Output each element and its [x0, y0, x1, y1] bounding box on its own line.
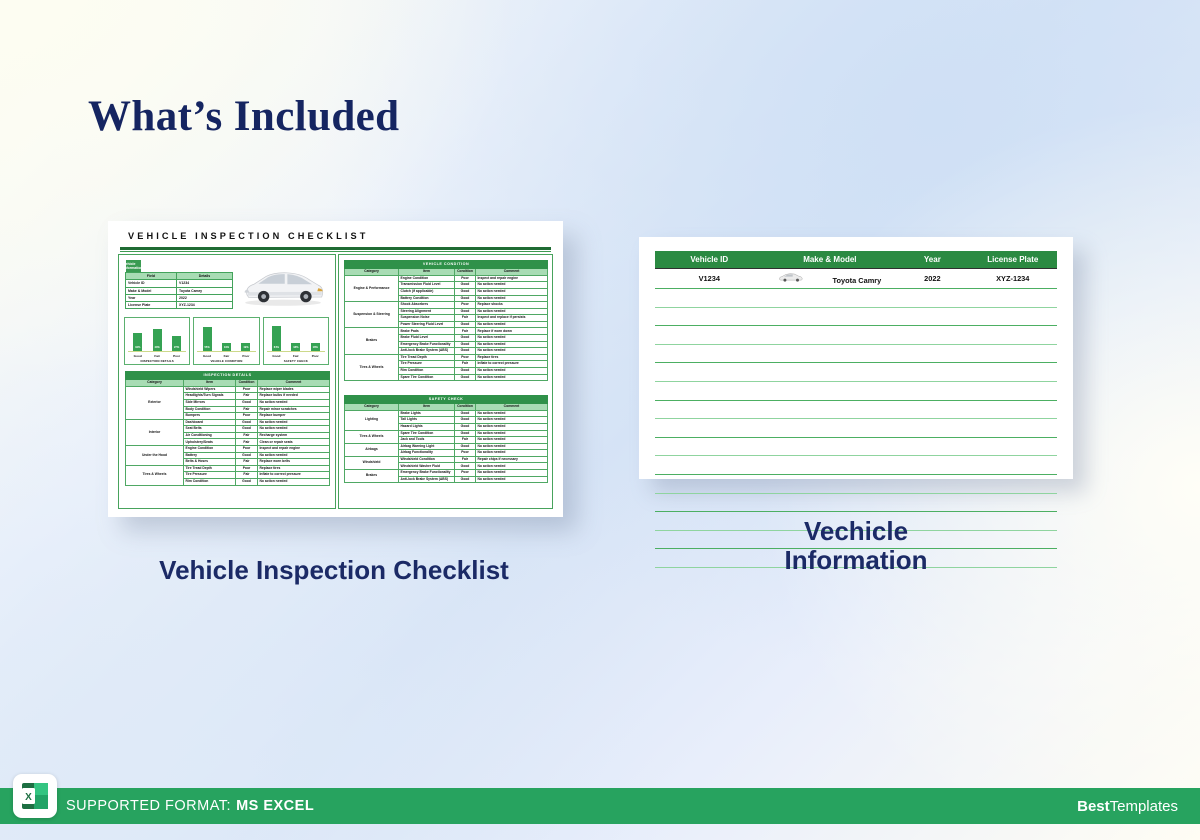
field-label: Vehicle ID — [126, 280, 177, 287]
cell-item: Engine Condition — [184, 446, 236, 453]
header-category: Category — [126, 380, 184, 387]
cell-item: Airbag Warning Light — [399, 443, 455, 450]
cell-condition: Poor — [236, 465, 258, 472]
header-item: Item — [399, 404, 455, 411]
bar-poor: 18% — [311, 343, 320, 350]
cell-empty — [969, 326, 1057, 345]
cell-empty — [655, 512, 764, 531]
bar-fair: 40% — [153, 329, 162, 350]
chart-plot-area: 34% 40% 27% — [128, 321, 186, 352]
field-label: Make & Model — [126, 287, 177, 294]
cell-condition: Good — [455, 282, 476, 289]
cell-empty — [764, 381, 897, 400]
bar-value-label: 18% — [293, 347, 298, 350]
chart-title: VEHICLE CONDITION — [194, 359, 258, 363]
cell-empty — [969, 307, 1057, 326]
table-row: Tires & WheelsTire Tread DepthPoorReplac… — [126, 465, 330, 472]
cell-comment: No action needed — [258, 399, 330, 406]
cell-condition: Good — [455, 368, 476, 375]
cell-empty — [764, 400, 897, 419]
cell-comment: No action needed — [476, 463, 548, 470]
cell-empty — [969, 530, 1057, 549]
cell-item: Steering Alignment — [399, 308, 455, 315]
field-value: V1234 — [177, 280, 233, 287]
cell-condition: Good — [455, 341, 476, 348]
table-title-row: INSPECTION DETAILS — [126, 372, 330, 380]
cell-empty — [896, 326, 968, 345]
header-category: Category — [345, 404, 399, 411]
cell-empty — [655, 474, 764, 493]
bar-value-label: 19% — [224, 347, 229, 350]
sheet-title: VEHICLE INSPECTION CHECKLIST — [128, 231, 368, 241]
cell-empty — [764, 419, 897, 438]
cell-empty — [969, 381, 1057, 400]
supported-format-label: SUPPORTED FORMAT: — [66, 798, 231, 814]
vehicle-information-preview-card[interactable]: Vehicle ID Make & Model Year License Pla… — [639, 237, 1073, 479]
cell-condition: Good — [455, 423, 476, 430]
table-row: Tires & WheelsSpare Tire ConditionGoodNo… — [345, 430, 548, 437]
chart-plot-area: 55% 19% 19% — [197, 321, 255, 352]
cell-comment: No action needed — [476, 470, 548, 477]
table-row: BrakesBrake PadsFairReplace if worn down — [345, 328, 548, 335]
cell-empty — [896, 456, 968, 475]
cell-comment: No action needed — [476, 410, 548, 417]
cell-empty — [655, 326, 764, 345]
header-vehicle-id: Vehicle ID — [655, 251, 764, 269]
bar-poor: 19% — [241, 343, 250, 351]
cell-comment: Repair minor scratches — [258, 406, 330, 413]
cell-item: Brake Lights — [399, 410, 455, 417]
cell-comment: No action needed — [476, 423, 548, 430]
cell-empty — [655, 307, 764, 326]
bar-value-label: 19% — [243, 347, 248, 350]
header-item: Item — [399, 269, 455, 276]
cell-condition: Poor — [455, 450, 476, 457]
cell-comment: Clean or repair seats — [258, 439, 330, 446]
cell-condition: Good — [236, 426, 258, 433]
brand-best: Best — [1077, 798, 1110, 815]
cell-empty — [896, 363, 968, 382]
table-title: INSPECTION DETAILS — [126, 372, 330, 380]
cell-condition: Good — [455, 335, 476, 342]
header-license-plate: License Plate — [969, 251, 1057, 269]
cell-comment: No action needed — [258, 426, 330, 433]
field-value: Toyota Camry — [177, 287, 233, 294]
excel-badge: X — [13, 774, 57, 818]
field-value: XYZ-1234 — [177, 301, 233, 308]
cell-item: Spare Tire Condition — [399, 430, 455, 437]
cell-condition: Good — [455, 374, 476, 381]
chart-title: INSPECTION DETAILS — [125, 359, 189, 363]
header-item: Item — [184, 380, 236, 387]
bar-value-label: 27% — [174, 347, 179, 350]
left-panel: Vehicle Information Field Details Vehicl… — [118, 254, 336, 509]
cell-condition: Fair — [236, 432, 258, 439]
cell-empty — [655, 363, 764, 382]
sedan-car-icon — [239, 263, 327, 309]
cell-comment: Inflate to correct pressure — [258, 472, 330, 479]
x-tick-fair: Fair — [218, 354, 234, 358]
x-tick-good: Good — [199, 354, 215, 358]
cell-comment: Replace shocks — [476, 302, 548, 309]
cell-condition: Good — [455, 321, 476, 328]
cell-item: Brake Fluid Level — [399, 335, 455, 342]
field-label: Year — [126, 294, 177, 301]
cell-comment: Replace bulbs if needed — [258, 393, 330, 400]
table-row-empty — [655, 307, 1057, 326]
cell-empty — [896, 419, 968, 438]
table-row: Under the HoodEngine ConditionPoorInspec… — [126, 446, 330, 453]
cell-comment: No action needed — [258, 419, 330, 426]
table-row-empty — [655, 456, 1057, 475]
cell-condition: Good — [236, 479, 258, 486]
cell-empty — [969, 512, 1057, 531]
chart-x-tick-labels: Good Fair Poor — [267, 354, 325, 358]
cell-condition: Fair — [455, 315, 476, 322]
cell-category: Exterior — [126, 386, 184, 419]
cell-empty — [655, 344, 764, 363]
cell-condition: Good — [236, 419, 258, 426]
cell-comment: No action needed — [476, 368, 548, 375]
chart-safety-check: 64% 18% 18% Good Fair Poor SAFETY CHECK — [263, 317, 329, 365]
cell-item: Headlights/Turn Signals — [184, 393, 236, 400]
cell-empty — [764, 437, 897, 456]
cell-empty — [969, 437, 1057, 456]
chart-inspection-details: 34% 40% 27% Good Fair Poor INSPECTION DE… — [124, 317, 190, 365]
table-row-empty — [655, 363, 1057, 382]
cell-condition: Poor — [236, 386, 258, 393]
cell-category: Tires & Wheels — [345, 354, 399, 380]
cell-condition: Good — [455, 348, 476, 355]
cell-empty — [655, 493, 764, 512]
cell-condition: Good — [455, 295, 476, 302]
bar-fair: 19% — [222, 343, 231, 351]
cell-comment: No action needed — [476, 348, 548, 355]
table-row-empty — [655, 419, 1057, 438]
cell-comment: No action needed — [476, 430, 548, 437]
cell-comment: No action needed — [258, 452, 330, 459]
caption-right: Vechicle Information — [756, 517, 956, 575]
checklist-preview-card[interactable]: VEHICLE INSPECTION CHECKLIST Vehicle Inf… — [108, 221, 563, 517]
vehicle-condition-table: VEHICLE CONDITIONCategoryItemConditionCo… — [344, 260, 548, 381]
page-title: What’s Included — [88, 92, 399, 141]
cell-comment: No action needed — [476, 335, 548, 342]
cell-empty — [655, 530, 764, 549]
table-row-empty — [655, 474, 1057, 493]
cell-comment: Replace wiper blades — [258, 386, 330, 393]
cell-empty — [896, 400, 968, 419]
table-header-row: CategoryItemConditionComment — [345, 269, 548, 276]
cell-empty — [655, 419, 764, 438]
cell-item: Airbag Functionality — [399, 450, 455, 457]
table-row: Year2022 — [126, 294, 233, 301]
cell-condition: Good — [455, 443, 476, 450]
cell-empty — [764, 456, 897, 475]
x-tick-good: Good — [130, 354, 146, 358]
cell-category: Suspension & Steering — [345, 302, 399, 328]
table-title-row: SAFETY CHECK — [345, 396, 548, 404]
table-row-empty — [655, 344, 1057, 363]
cell-condition: Good — [455, 463, 476, 470]
cell-condition: Good — [455, 430, 476, 437]
cell-empty — [969, 549, 1057, 568]
cell-empty — [896, 381, 968, 400]
cell-category: Under the Hood — [126, 446, 184, 466]
cell-category: Lighting — [345, 410, 399, 430]
table-row-empty — [655, 493, 1057, 512]
header-condition: Condition — [455, 404, 476, 411]
cell-category: Engine & Performance — [345, 275, 399, 301]
table-row: LightingBrake LightsGoodNo action needed — [345, 410, 548, 417]
safety-check-table: SAFETY CHECKCategoryItemConditionComment… — [344, 395, 548, 483]
cell-make-model: Toyota Camry — [764, 269, 897, 289]
cell-item: Hazard Lights — [399, 423, 455, 430]
cell-condition: Good — [236, 452, 258, 459]
bar-value-label: 34% — [135, 347, 140, 350]
cell-comment: No action needed — [476, 341, 548, 348]
make-model-text: Toyota Camry — [833, 276, 882, 285]
cell-item: Tire Tread Depth — [399, 354, 455, 361]
bar-good: 55% — [203, 327, 212, 351]
table-title: SAFETY CHECK — [345, 396, 548, 404]
cell-comment: No action needed — [476, 321, 548, 328]
cell-category: Tires & Wheels — [126, 465, 184, 485]
bar-value-label: 55% — [204, 347, 209, 350]
cell-item: Battery Condition — [399, 295, 455, 302]
cell-category: Interior — [126, 419, 184, 445]
cell-empty — [655, 456, 764, 475]
inspection-details-table: INSPECTION DETAILSCategoryItemConditionC… — [125, 371, 330, 486]
cell-item: Power Steering Fluid Level — [399, 321, 455, 328]
cell-item: Seat Belts — [184, 426, 236, 433]
table-header-row: CategoryItemConditionComment — [345, 404, 548, 411]
table-header-row: Field Details — [126, 273, 233, 280]
right-panel: VEHICLE CONDITIONCategoryItemConditionCo… — [338, 254, 553, 509]
cell-item: Jack and Tools — [399, 437, 455, 444]
cell-empty — [655, 289, 764, 308]
cell-item: Shock Absorbers — [399, 302, 455, 309]
table-row-empty — [655, 437, 1057, 456]
cell-item: Anti-lock Brake System (ABS) — [399, 476, 455, 483]
chart-vehicle-condition: 55% 19% 19% Good Fair Poor VEHICLE CONDI… — [193, 317, 259, 365]
cell-comment: No action needed — [476, 308, 548, 315]
cell-item: Windshield Condition — [399, 456, 455, 463]
cell-empty — [896, 289, 968, 308]
cell-empty — [969, 363, 1057, 382]
cell-condition: Fair — [236, 459, 258, 466]
supported-format-value: MS EXCEL — [236, 798, 314, 814]
cell-empty — [896, 437, 968, 456]
cell-comment: Replace worn belts — [258, 459, 330, 466]
cell-item: Air Conditioning — [184, 432, 236, 439]
header-condition: Condition — [236, 380, 258, 387]
cell-empty — [764, 289, 897, 308]
cell-condition: Fair — [236, 406, 258, 413]
cell-empty — [896, 474, 968, 493]
cell-comment: No action needed — [476, 282, 548, 289]
cell-condition: Fair — [236, 439, 258, 446]
vehicle-information-table: Vehicle Information Field Details Vehicl… — [125, 260, 233, 309]
bar-value-label: 18% — [313, 347, 318, 350]
chart-plot-area: 64% 18% 18% — [267, 321, 325, 352]
cell-vehicle-id: V1234 — [655, 269, 764, 289]
table-row: WindshieldWindshield ConditionFairRepair… — [345, 456, 548, 463]
table-row: Tires & WheelsTire Tread DepthPoorReplac… — [345, 354, 548, 361]
cell-empty — [896, 493, 968, 512]
cell-empty — [969, 344, 1057, 363]
bar-good: 64% — [272, 326, 281, 351]
cell-empty — [764, 307, 897, 326]
header-comment: Comment — [258, 380, 330, 387]
cell-empty — [969, 493, 1057, 512]
cell-comment: No action needed — [258, 479, 330, 486]
cell-empty — [969, 289, 1057, 308]
cell-condition: Fair — [455, 456, 476, 463]
cell-empty — [969, 400, 1057, 419]
table-row: Suspension & SteeringShock AbsorbersPoor… — [345, 302, 548, 309]
cell-condition: Poor — [455, 302, 476, 309]
header-comment: Comment — [476, 404, 548, 411]
cell-empty — [764, 363, 897, 382]
cell-condition: Good — [455, 288, 476, 295]
cell-condition: Poor — [236, 413, 258, 420]
cell-item: Windshield Washer Fluid — [399, 463, 455, 470]
cell-item: Rim Condition — [184, 479, 236, 486]
cell-empty — [969, 419, 1057, 438]
supported-format-text: SUPPORTED FORMAT: MS EXCEL — [66, 788, 314, 824]
cell-comment: Replace bumper — [258, 413, 330, 420]
cell-item: Emergency Brake Functionality — [399, 470, 455, 477]
table-row: V1234 Toyota Camry 2022 XYZ-1234 — [655, 269, 1057, 289]
cell-condition: Poor — [455, 354, 476, 361]
x-tick-poor: Poor — [169, 354, 185, 358]
bar-value-label: 64% — [274, 347, 279, 350]
table-row: License PlateXYZ-1234 — [126, 301, 233, 308]
cell-category: Windshield — [345, 456, 399, 469]
cell-condition: Good — [455, 476, 476, 483]
cell-item: Spare Tire Condition — [399, 374, 455, 381]
cell-item: Side Mirrors — [184, 399, 236, 406]
cell-comment: Inflate to correct pressure — [476, 361, 548, 368]
header-details: Details — [177, 273, 233, 280]
x-tick-fair: Fair — [149, 354, 165, 358]
caption-left: Vehicle Inspection Checklist — [134, 556, 534, 585]
bar-poor: 27% — [172, 336, 181, 350]
cell-item: Rim Condition — [399, 368, 455, 375]
cell-empty — [655, 381, 764, 400]
table-row: InteriorDashboardGoodNo action needed — [126, 419, 330, 426]
cell-condition: Fair — [455, 437, 476, 444]
header-condition: Condition — [455, 269, 476, 276]
cell-item: Tire Pressure — [399, 361, 455, 368]
cell-item: Anti-lock Brake System (ABS) — [399, 348, 455, 355]
cell-license-plate: XYZ-1234 — [969, 269, 1057, 289]
cell-comment: No action needed — [476, 450, 548, 457]
cell-item: Emergency Brake Functionality — [399, 341, 455, 348]
cell-comment: Replace tires — [258, 465, 330, 472]
cell-category: Brakes — [345, 470, 399, 483]
cell-comment: No action needed — [476, 295, 548, 302]
cell-condition: Fair — [236, 472, 258, 479]
cell-comment: Inspect and repair engine — [476, 275, 548, 282]
cell-condition: Good — [236, 399, 258, 406]
brand-templates: Templates — [1110, 798, 1178, 815]
chart-title: SAFETY CHECK — [264, 359, 328, 363]
cell-comment: Repair chips if necessary — [476, 456, 548, 463]
cell-comment: No action needed — [476, 288, 548, 295]
x-tick-good: Good — [268, 354, 284, 358]
car-icon — [778, 272, 804, 285]
caption-right-line2: Information — [756, 546, 956, 575]
cell-condition: Good — [455, 308, 476, 315]
cell-item: Engine Condition — [399, 275, 455, 282]
cell-empty — [764, 326, 897, 345]
cell-category: Airbags — [345, 443, 399, 456]
cell-item: Clutch (if applicable) — [399, 288, 455, 295]
footer-bar: SUPPORTED FORMAT: MS EXCEL BestTemplates — [0, 788, 1200, 824]
cell-item: Belts & Hoses — [184, 459, 236, 466]
cell-item: Brake Pads — [399, 328, 455, 335]
table-row: ExteriorWindshield WipersPoorReplace wip… — [126, 386, 330, 393]
table-row: Vehicle IDV1234 — [126, 280, 233, 287]
cell-condition: Poor — [236, 446, 258, 453]
svg-text:X: X — [25, 792, 32, 803]
cell-comment: Replace tires — [476, 354, 548, 361]
cell-condition: Fair — [236, 393, 258, 400]
table-row: BrakesEmergency Brake FunctionalityPoorN… — [345, 470, 548, 477]
cell-empty — [764, 474, 897, 493]
title-rule-secondary — [120, 251, 551, 252]
chart-x-tick-labels: Good Fair Poor — [128, 354, 186, 358]
header-field: Field — [126, 273, 177, 280]
cell-empty — [655, 437, 764, 456]
x-tick-poor: Poor — [307, 354, 323, 358]
cell-item: Suspension Noise — [399, 315, 455, 322]
cell-item: Tire Pressure — [184, 472, 236, 479]
caption-right-line1: Vechicle — [756, 517, 956, 546]
cell-comment: No action needed — [476, 437, 548, 444]
cell-comment: No action needed — [476, 374, 548, 381]
table-title-row: VEHICLE CONDITION — [345, 261, 548, 269]
cell-condition: Poor — [455, 275, 476, 282]
cell-item: Bumpers — [184, 413, 236, 420]
cell-empty — [896, 307, 968, 326]
excel-icon: X — [20, 781, 50, 811]
table-title: VEHICLE CONDITION — [345, 261, 548, 269]
cell-comment: Replace if worn down — [476, 328, 548, 335]
header-category: Category — [345, 269, 399, 276]
cell-comment: Inspect and repair engine — [258, 446, 330, 453]
cell-comment: Recharge system — [258, 432, 330, 439]
field-value: 2022 — [177, 294, 233, 301]
cell-condition: Good — [455, 410, 476, 417]
cell-empty — [969, 474, 1057, 493]
header-make-model: Make & Model — [764, 251, 897, 269]
cell-empty — [764, 344, 897, 363]
cell-comment: Inspect and replace if persists — [476, 315, 548, 322]
car-photo — [239, 263, 327, 309]
bar-value-label: 40% — [155, 347, 160, 350]
vehicle-information-banner: Vehicle Information — [126, 260, 141, 272]
condition-charts: 34% 40% 27% Good Fair Poor INSPECTION DE… — [124, 317, 329, 365]
cell-comment: No action needed — [476, 417, 548, 424]
cell-condition: Poor — [455, 470, 476, 477]
cell-year: 2022 — [896, 269, 968, 289]
bar-good: 34% — [133, 333, 142, 350]
cell-condition: Fair — [455, 361, 476, 368]
cell-item: Battery — [184, 452, 236, 459]
cell-item: Body Condition — [184, 406, 236, 413]
